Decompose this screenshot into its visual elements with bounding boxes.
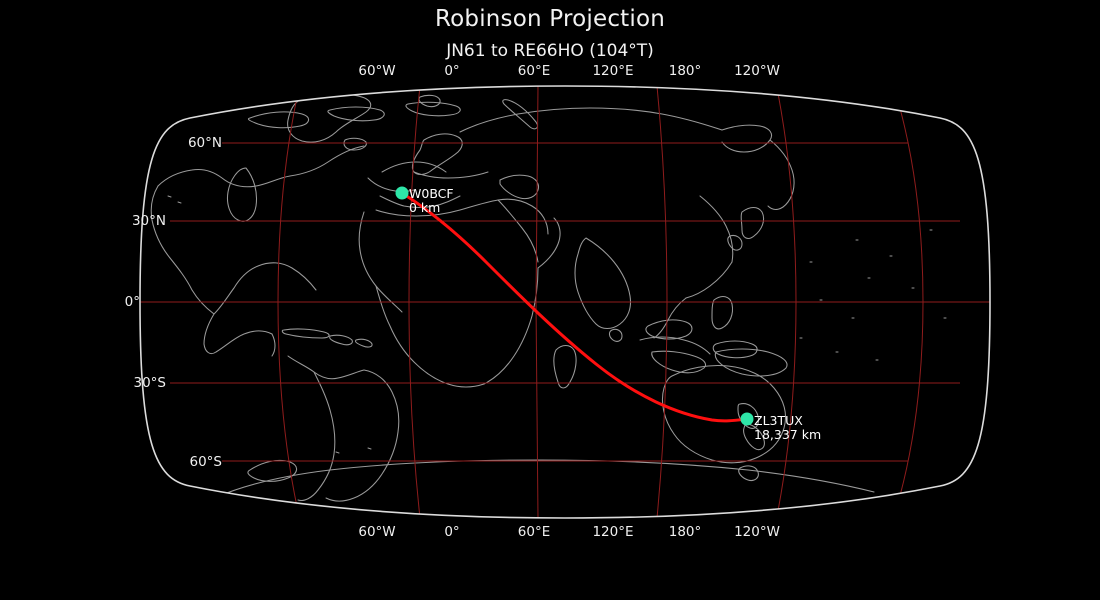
lon-label-bottom-3: 120°E [592,524,633,540]
lon-label-bottom-0: 60°W [358,524,395,540]
lon-label-top-0: 60°W [358,63,395,79]
lon-label-bottom-4: 180° [669,524,702,540]
lat-label-30n: 30°N [132,213,166,229]
world-map [0,0,1100,600]
station-marker-0[interactable] [396,187,409,200]
station-distance-0: 0 km [409,201,454,215]
station-label-1: ZL3TUX 18,337 km [754,414,821,442]
map-body [130,80,1000,526]
lon-label-bottom-1: 0° [444,524,459,540]
lat-label-60n: 60°N [188,135,222,151]
station-label-0: W0BCF 0 km [409,187,454,215]
station-distance-1: 18,337 km [754,428,821,442]
lon-label-top-3: 120°E [592,63,633,79]
lat-label-60s: 60°S [190,454,223,470]
station-marker-1[interactable] [741,413,754,426]
lon-label-top-1: 0° [444,63,459,79]
lon-label-top-2: 60°E [518,63,550,79]
station-callsign-0: W0BCF [409,186,454,201]
lon-label-top-4: 180° [669,63,702,79]
map-figure: Robinson Projection JN61 to RE66HO (104°… [0,0,1100,600]
lat-label-30s: 30°S [134,375,167,391]
station-callsign-1: ZL3TUX [754,413,803,428]
map-background [130,80,1000,526]
lon-label-bottom-5: 120°W [734,524,780,540]
lat-label-0: 0° [125,294,140,310]
lon-label-top-5: 120°W [734,63,780,79]
lon-label-bottom-2: 60°E [518,524,550,540]
